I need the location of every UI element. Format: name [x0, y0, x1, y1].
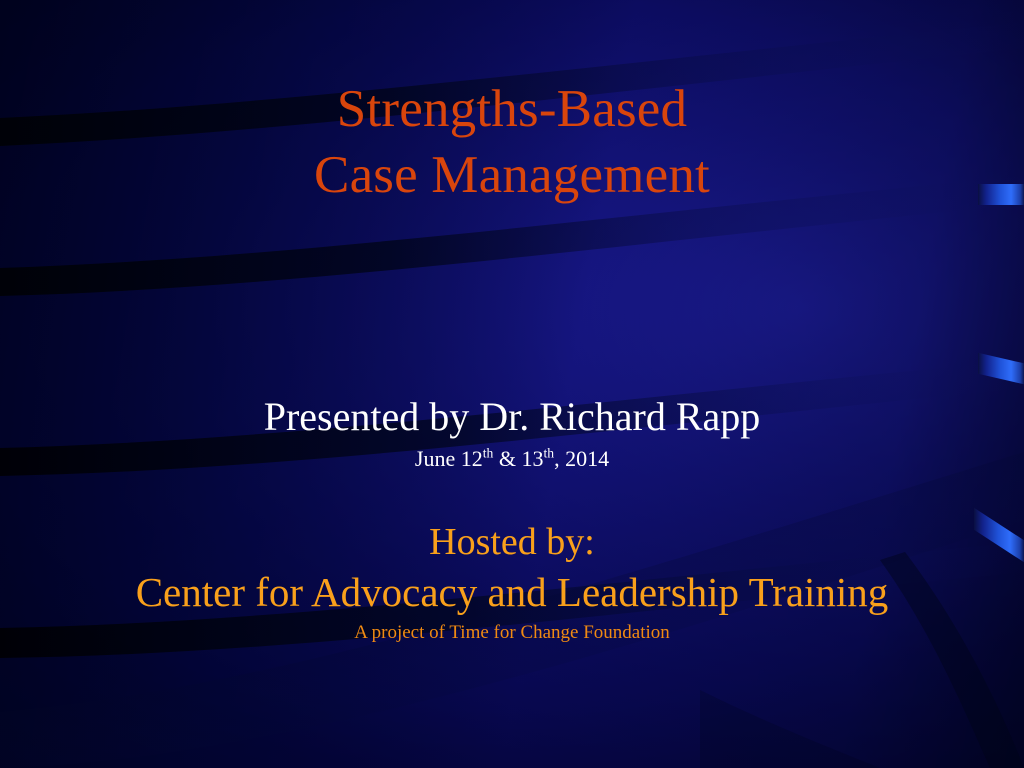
date-day-2-ordinal: th — [543, 446, 554, 461]
slide-content: Strengths-Based Case Management Presente… — [0, 0, 1024, 768]
date-day-2: 13 — [521, 446, 543, 471]
title-slide: Strengths-Based Case Management Presente… — [0, 0, 1024, 768]
title-line-2: Case Management — [0, 142, 1024, 208]
title-line-1: Strengths-Based — [0, 76, 1024, 142]
presenter-name: Presented by Dr. Richard Rapp — [0, 392, 1024, 442]
date-separator: & — [499, 446, 516, 471]
host-organization: Center for Advocacy and Leadership Train… — [0, 566, 1024, 618]
date-month: June — [415, 446, 455, 471]
presenter-section: Presented by Dr. Richard Rapp June 12th … — [0, 392, 1024, 474]
date-comma: , — [554, 446, 560, 471]
host-tagline: A project of Time for Change Foundation — [0, 620, 1024, 646]
presentation-date: June 12th & 13th, 2014 — [0, 444, 1024, 474]
date-day-1: 12 — [461, 446, 483, 471]
date-day-1-ordinal: th — [483, 446, 494, 461]
hosted-by-label: Hosted by: — [0, 518, 1024, 566]
slide-title: Strengths-Based Case Management — [0, 76, 1024, 208]
date-year: 2014 — [565, 446, 609, 471]
host-section: Hosted by: Center for Advocacy and Leade… — [0, 518, 1024, 646]
